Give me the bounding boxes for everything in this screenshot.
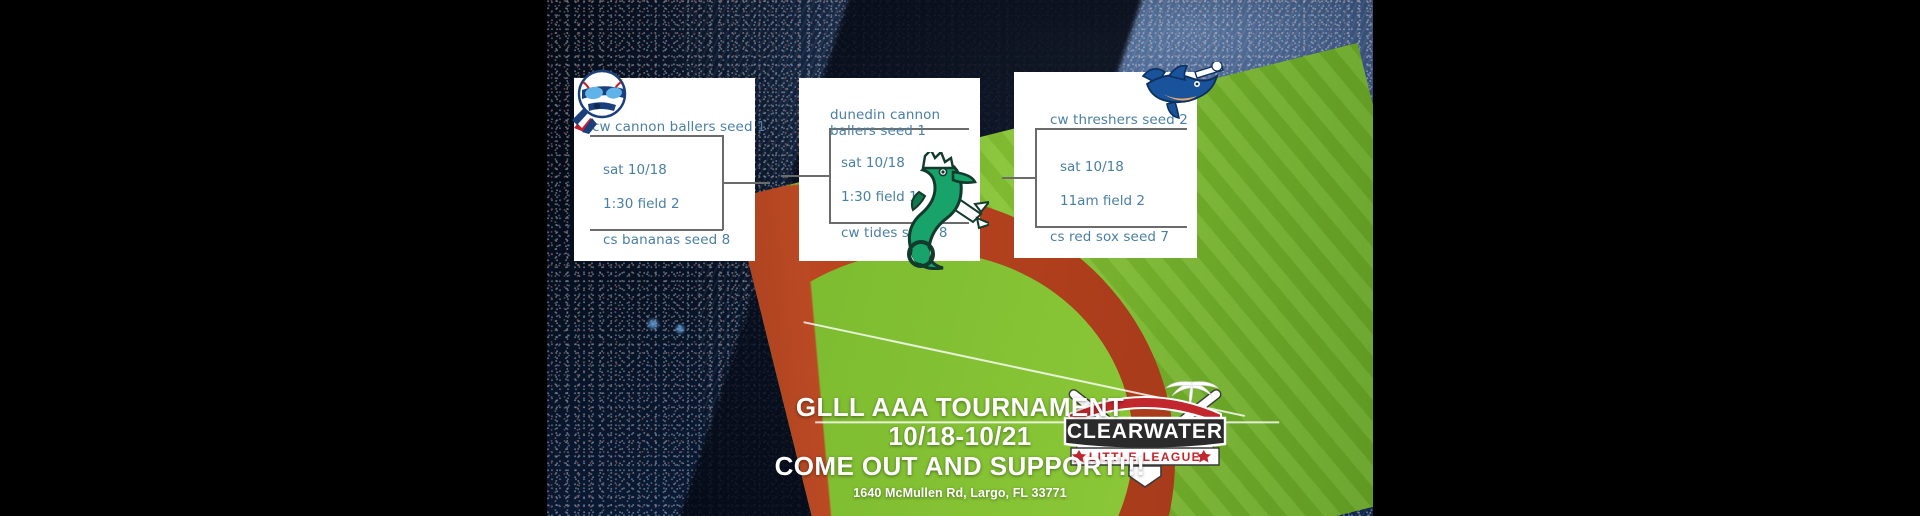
bracket-line-bottom-3	[1035, 226, 1187, 228]
headline-line-3: COME OUT AND SUPPORT!!!	[547, 452, 1373, 481]
stadium-background-photo: cw cannon ballers seed 1 sat 10/18 1:30 …	[547, 0, 1373, 516]
bracket-date-3: sat 10/18	[1060, 159, 1124, 175]
threshers-shark-logo	[1139, 62, 1225, 124]
bracket-line-bottom-1	[590, 229, 723, 231]
bracket-line-vert-2	[829, 128, 831, 223]
bracket-meta-3: sat 10/18 11am field 2	[1060, 142, 1145, 210]
bracket-date-2: sat 10/18	[841, 155, 905, 171]
tides-seahorse-logo	[897, 152, 989, 270]
bracket-date-1: sat 10/18	[603, 162, 667, 178]
bracket-meta-1: sat 10/18 1:30 field 2	[603, 145, 680, 213]
bracket-line-in-2	[781, 175, 829, 177]
cannon-ballers-logo	[566, 64, 634, 134]
headline-line-1: GLLL AAA TOURNAMENT	[547, 393, 1373, 422]
letterbox-right	[1373, 0, 1920, 516]
venue-address: 1640 McMullen Rd, Largo, FL 33771	[547, 486, 1373, 500]
letterbox-left	[0, 0, 547, 516]
tournament-flyer: cw cannon ballers seed 1 sat 10/18 1:30 …	[0, 0, 1920, 516]
bracket-timefield-1: 1:30 field 2	[603, 196, 680, 212]
bracket-line-out-1	[722, 182, 770, 184]
bracket-line-vert-3	[1035, 128, 1037, 227]
bracket-timefield-3: 11am field 2	[1060, 193, 1145, 209]
bracket-bottom-team-1: cs bananas seed 8	[603, 233, 730, 249]
bracket-top-team-2: dunedin cannon ballers seed 1	[830, 108, 980, 140]
stadium-light-2	[645, 318, 661, 330]
bracket-bottom-team-3: cs red sox seed 7	[1050, 230, 1169, 246]
headline-line-2: 10/18-10/21	[547, 422, 1373, 451]
bracket-line-in-3	[1002, 177, 1035, 179]
headline-block: GLLL AAA TOURNAMENT 10/18-10/21 COME OUT…	[547, 393, 1373, 500]
stadium-light-3	[675, 322, 685, 336]
